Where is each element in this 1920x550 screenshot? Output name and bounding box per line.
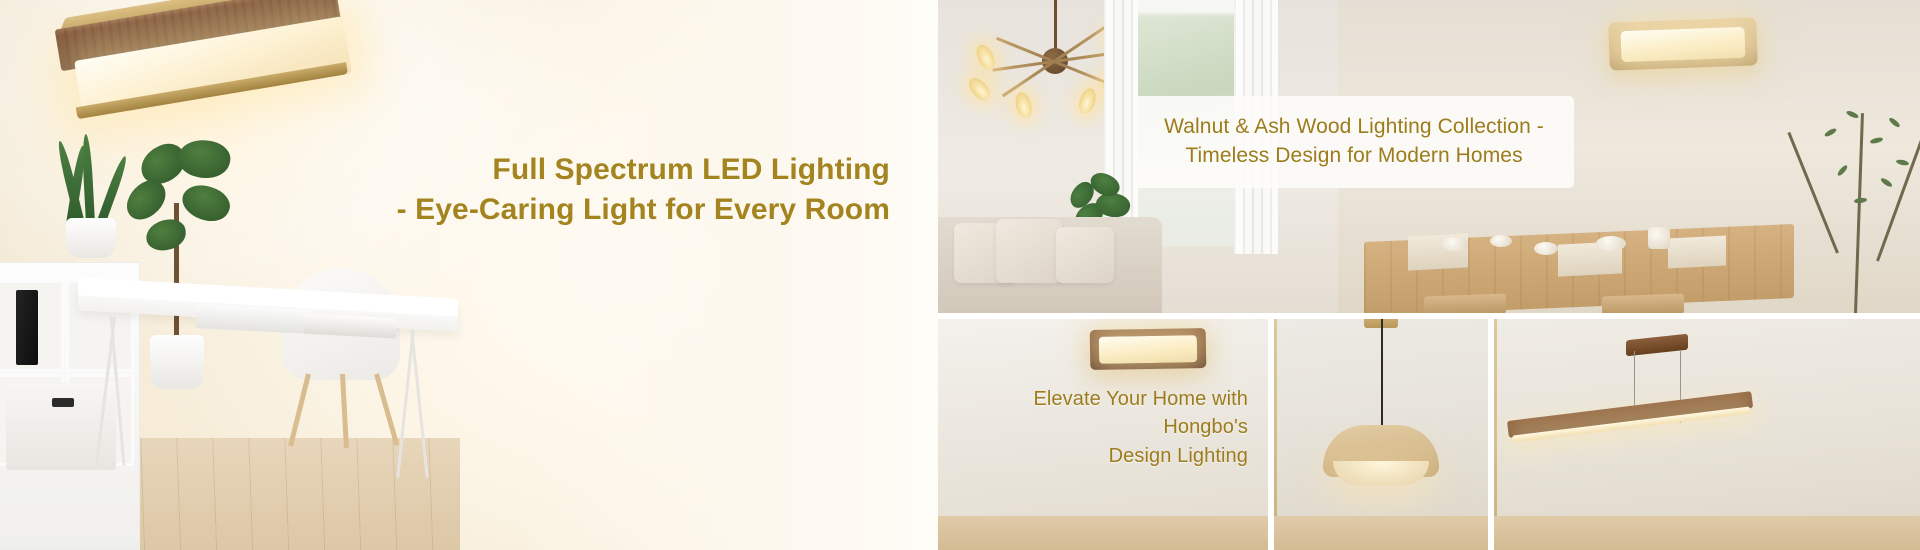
olive-tree bbox=[1784, 63, 1920, 313]
bowl bbox=[1442, 237, 1468, 251]
cushion bbox=[996, 219, 1062, 283]
bottom-caption-line-2: Design Lighting bbox=[956, 442, 1248, 470]
right-fade-gradient bbox=[518, 0, 938, 550]
floor bbox=[1494, 516, 1920, 550]
hero-left-panel[interactable]: Full Spectrum LED Lighting - Eye-Caring … bbox=[0, 0, 938, 550]
floor bbox=[938, 516, 1268, 550]
snake-plant bbox=[42, 133, 118, 258]
table-runner bbox=[1668, 235, 1726, 268]
plant-pot bbox=[66, 218, 116, 258]
hero-headline: Full Spectrum LED Lighting - Eye-Caring … bbox=[330, 150, 890, 230]
linear-pendant-lamp-icon bbox=[1508, 337, 1758, 487]
hero-headline-line-1: Full Spectrum LED Lighting bbox=[330, 150, 890, 190]
right-column: Walnut & Ash Wood Lighting Collection - … bbox=[938, 0, 1920, 550]
square-flush-mount-light-icon bbox=[1090, 328, 1207, 370]
top-right-panel[interactable]: Walnut & Ash Wood Lighting Collection - … bbox=[938, 0, 1920, 313]
stool bbox=[1424, 294, 1506, 313]
bottom-tile-dome-pendant[interactable] bbox=[1274, 319, 1488, 550]
caption-line-2: Timeless Design for Modern Homes bbox=[1156, 142, 1552, 171]
top-right-caption-box: Walnut & Ash Wood Lighting Collection - … bbox=[1134, 96, 1574, 188]
hero-headline-line-2: - Eye-Caring Light for Every Room bbox=[330, 190, 890, 230]
bowl bbox=[1596, 236, 1626, 251]
bottom-right-panel: Elevate Your Home with Hongbo's Design L… bbox=[938, 319, 1920, 550]
cup bbox=[1648, 227, 1670, 249]
caption-line-1: Walnut & Ash Wood Lighting Collection - bbox=[1156, 113, 1552, 142]
stool bbox=[1602, 294, 1684, 313]
plant-pot bbox=[150, 335, 204, 389]
black-book bbox=[16, 290, 38, 365]
promo-banner: Full Spectrum LED Lighting - Eye-Caring … bbox=[0, 0, 1920, 550]
bottom-tile-linear-pendant[interactable] bbox=[1494, 319, 1920, 550]
bottom-tile-flush-mount[interactable]: Elevate Your Home with Hongbo's Design L… bbox=[938, 319, 1268, 550]
bottom-caption-line-1: Elevate Your Home with Hongbo's bbox=[956, 385, 1248, 442]
bowl bbox=[1534, 242, 1558, 255]
bowl bbox=[1490, 235, 1512, 247]
bottom-caption: Elevate Your Home with Hongbo's Design L… bbox=[956, 385, 1248, 470]
floor bbox=[1274, 516, 1488, 550]
square-flush-mount-light-icon bbox=[1608, 17, 1758, 70]
cushion bbox=[1056, 227, 1114, 283]
